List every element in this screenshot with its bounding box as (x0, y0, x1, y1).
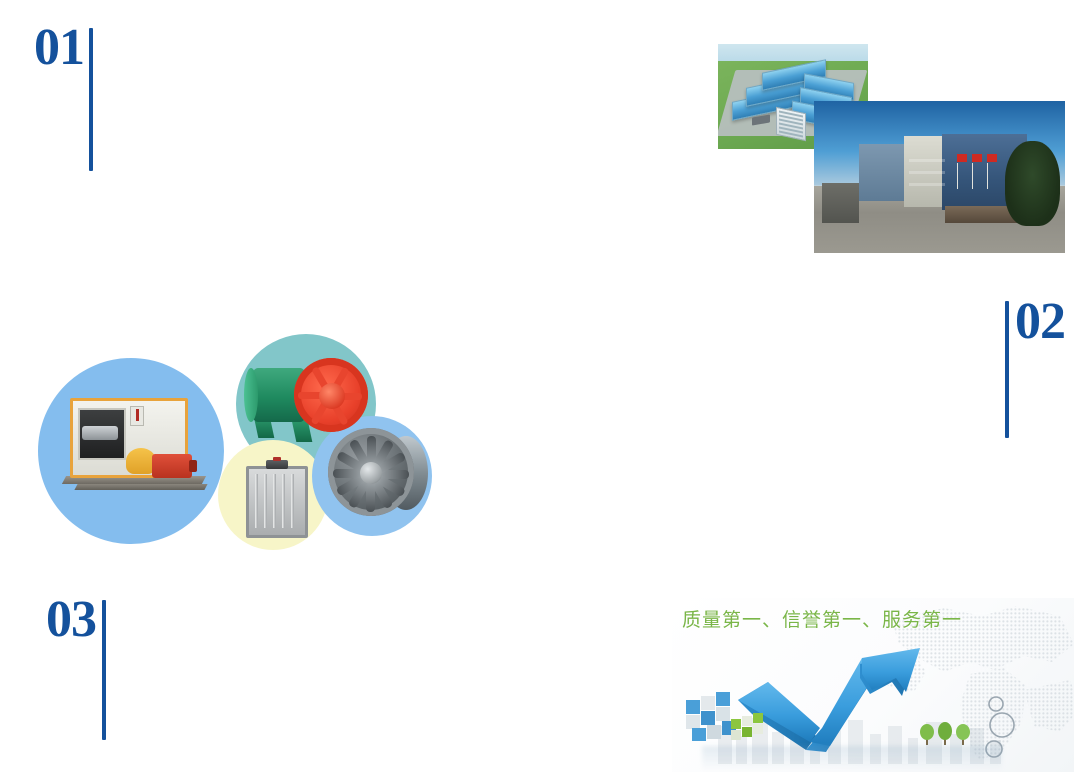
growth-arrow-graphic: 质量第一、信誉第一、服务第一 (672, 598, 1074, 772)
tree-icons (918, 714, 974, 746)
damper-actuator (266, 460, 288, 469)
axial-fan-hub (319, 383, 345, 409)
product-image-cabinet-fan (56, 392, 216, 507)
page-canvas: 01 02 (0, 0, 1074, 772)
cabinet-fan-motor (152, 454, 192, 478)
office-building-photo (814, 101, 1065, 253)
section-marker-03: 03 (46, 594, 106, 740)
product-image-mixed-flow-fan (322, 424, 432, 528)
photo-flagpole-3 (987, 163, 988, 189)
cabinet-fan-rail-2 (74, 484, 207, 490)
photo-building-left (859, 144, 909, 202)
section-number-03: 03 (46, 594, 96, 646)
photo-flag-1 (957, 154, 967, 162)
cabinet-fan-control-panel (130, 406, 144, 426)
damper-slat-4 (282, 474, 285, 528)
damper-slat-5 (291, 474, 294, 528)
photo-tree-right (1005, 141, 1060, 226)
section-marker-01: 01 (34, 22, 93, 171)
photo-flag-3 (987, 154, 997, 162)
section-marker-02: 02 (1005, 296, 1065, 438)
green-cube-blocks (730, 710, 764, 744)
damper-slat-3 (273, 474, 276, 528)
product-image-air-damper (246, 460, 308, 538)
section-rule-03 (102, 600, 106, 740)
arrow-reflection (702, 746, 1002, 772)
damper-slat-1 (255, 474, 258, 528)
product-photo-cluster (34, 320, 424, 555)
section-number-02: 02 (1015, 296, 1065, 348)
photo-window-row-2 (909, 171, 944, 174)
photo-flagpole-2 (972, 163, 973, 189)
section-number-01: 01 (34, 22, 84, 74)
photo-flagpole-1 (957, 163, 958, 189)
photo-flag-2 (972, 154, 982, 162)
section-rule-01 (89, 28, 93, 171)
photo-window-row-1 (909, 159, 944, 162)
company-slogan: 质量第一、信誉第一、服务第一 (682, 608, 962, 632)
photo-window-row-3 (909, 183, 944, 186)
section-rule-02 (1005, 301, 1009, 438)
cabinet-fan-wheel (82, 426, 118, 440)
mixed-fan-hub (360, 462, 382, 484)
damper-slat-2 (264, 474, 267, 528)
photo-guard-kiosk (822, 183, 860, 223)
